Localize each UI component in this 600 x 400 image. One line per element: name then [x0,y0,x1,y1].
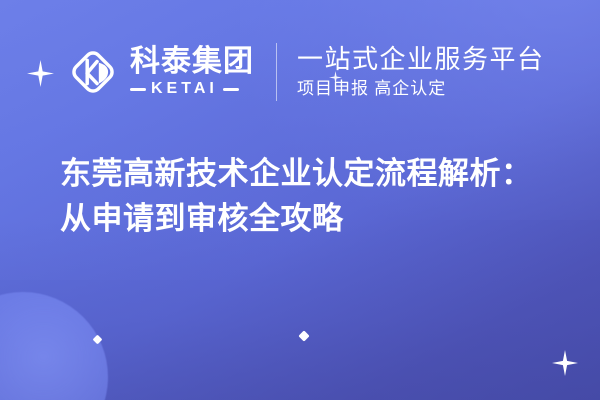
banner-title: 东莞高新技术企业认定流程解析： 从申请到审核全攻略 [60,152,560,241]
sparkle-diamond-icon-2 [298,330,309,341]
sparkle-diamond-icon-1 [93,335,103,345]
banner-header: 科泰集团 KETAI 一站式企业服务平台 项目申报 高企认定 [0,36,600,108]
brand-name-block: 科泰集团 KETAI [130,46,254,99]
tagline-block: 一站式企业服务平台 项目申报 高企认定 [297,45,545,100]
brand-name-cn: 科泰集团 [130,46,254,78]
banner-title-line-1: 东莞高新技术企业认定流程解析： [60,152,560,197]
brand-rule-left [130,88,146,91]
banner-title-line-2: 从申请到审核全攻略 [60,197,560,242]
background-shade-bottom [0,220,600,400]
brand-rule-right [223,88,239,91]
header-vertical-divider [276,43,277,101]
sparkle-star-icon-bottom-right [552,350,578,376]
decorative-circle-left [0,292,108,400]
tagline-secondary: 项目申报 高企认定 [297,79,545,99]
brand-name-en: KETAI [151,80,218,98]
brand-name-en-row: KETAI [130,80,254,98]
promo-banner: 科泰集团 KETAI 一站式企业服务平台 项目申报 高企认定 东莞高新技术企业认… [0,0,600,400]
ketai-diamond-kd-monogram-icon [64,43,122,101]
tagline-primary: 一站式企业服务平台 [297,45,545,74]
